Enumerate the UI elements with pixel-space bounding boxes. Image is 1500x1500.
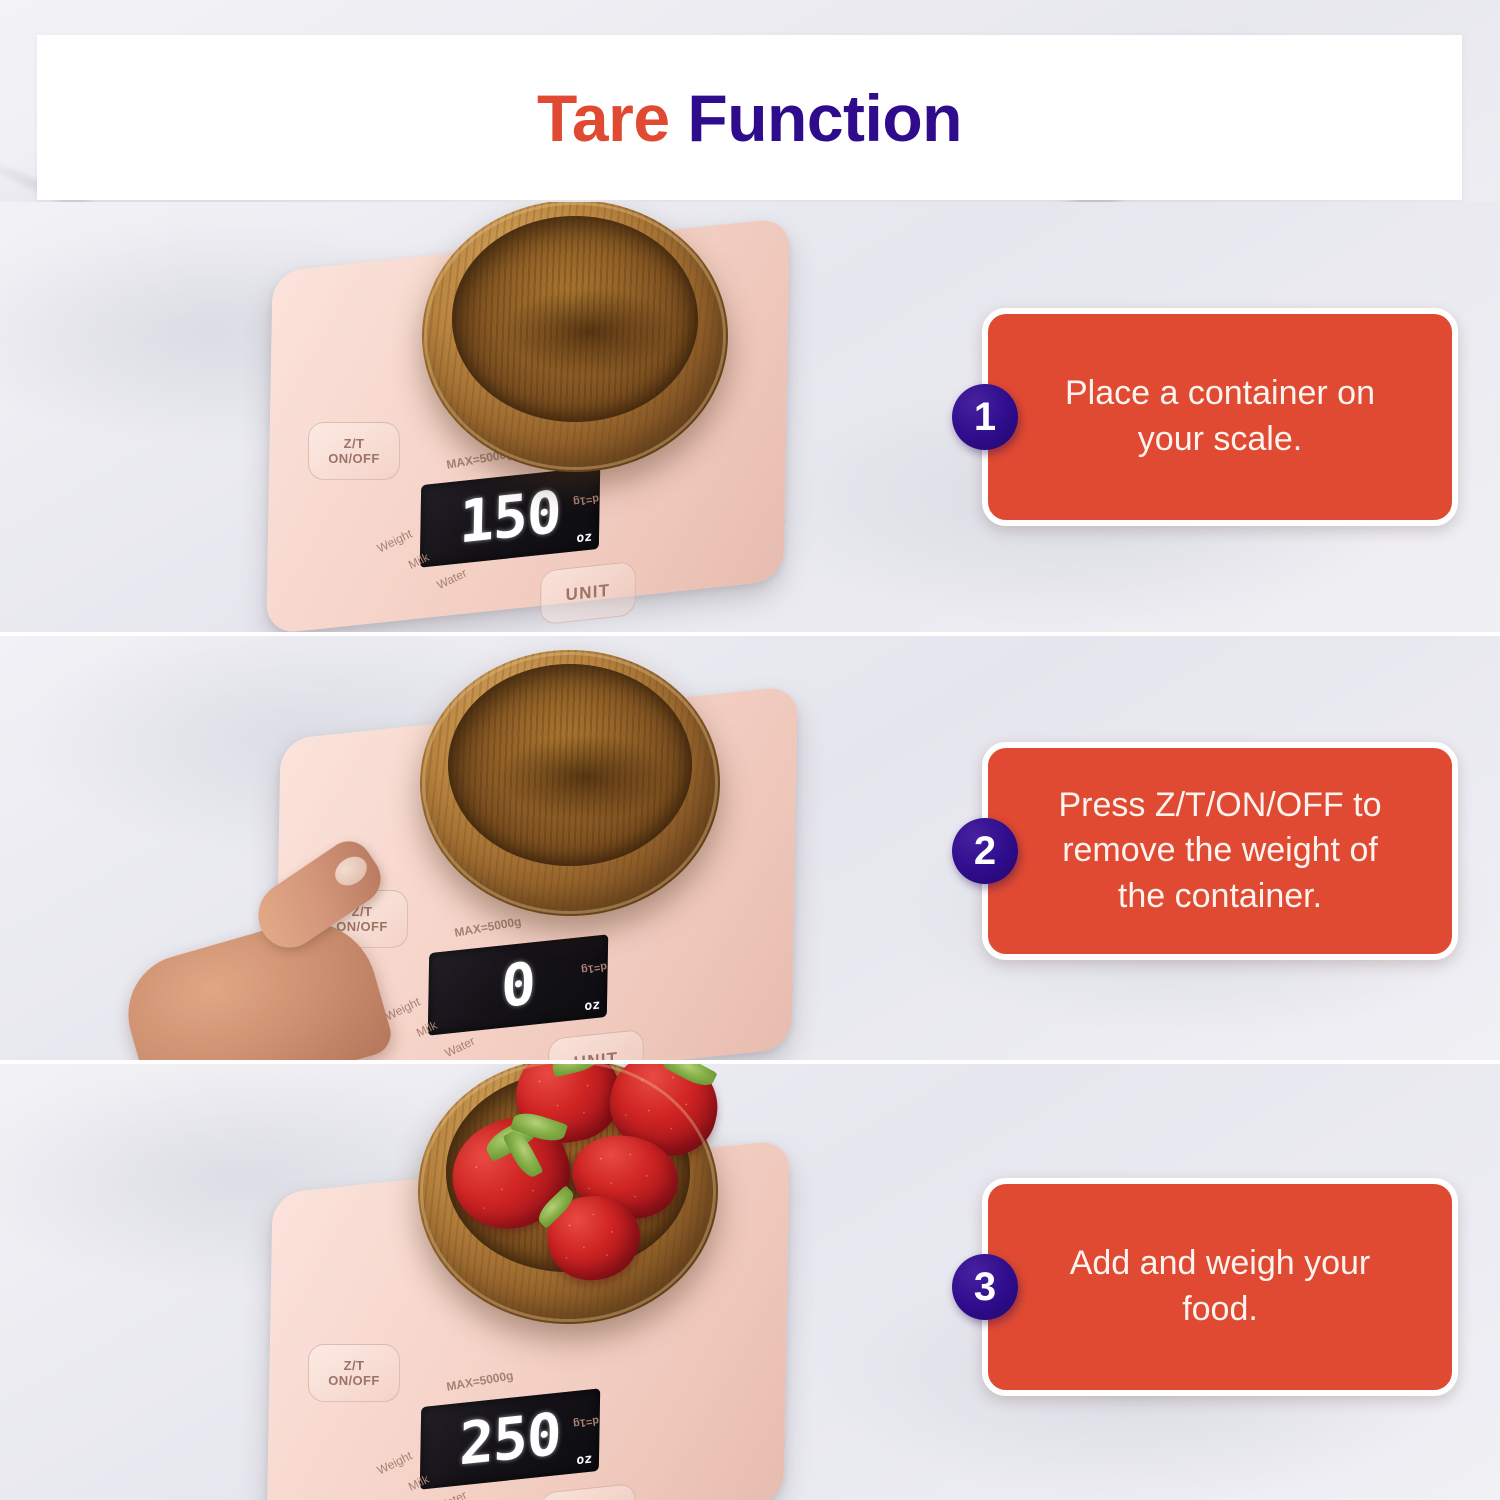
bowl-rim-highlight — [424, 202, 726, 470]
panel-divider-1 — [0, 632, 1500, 636]
step-panel-3: Z/T ON/OFF 250 oz MAX=5000g d=1g Weight … — [0, 1064, 1500, 1500]
bowl-rim-highlight — [422, 652, 718, 914]
step-card-2[interactable]: Press Z/T/ON/OFF to remove the weight of… — [982, 742, 1458, 960]
step-3-badge: 3 — [952, 1254, 1018, 1320]
step-2-number: 2 — [974, 829, 996, 874]
page-title: Tare Function — [537, 85, 962, 151]
unit-button-label: UNIT — [566, 581, 611, 606]
weight-reading-3: 250 — [459, 1399, 561, 1478]
step-3-number: 3 — [974, 1265, 996, 1310]
step-panel-2: Z/T ON/OFF 0 oz MAX=5000g d=1g Weight Mi… — [0, 636, 1500, 1060]
step-card-1[interactable]: Place a container on your scale. — [982, 308, 1458, 526]
unit-button[interactable]: UNIT — [540, 561, 635, 625]
step-3-text: Add and weigh your food. — [988, 1241, 1452, 1332]
weight-unit-3: oz — [576, 1451, 592, 1468]
weight-unit-1: oz — [576, 529, 592, 546]
step-panel-1: Z/T ON/OFF 150 oz MAX=5000g d=1g Weight … — [0, 202, 1500, 632]
step-2-badge: 2 — [952, 818, 1018, 884]
tare-button-label-2: ON/OFF — [328, 1373, 380, 1388]
unit-button-label: UNIT — [574, 1049, 619, 1060]
tare-button-label-1: Z/T — [344, 436, 365, 451]
weight-unit-2: oz — [584, 997, 600, 1014]
bowl-rim-highlight — [420, 1064, 716, 1322]
step-1-badge: 1 — [952, 384, 1018, 450]
tare-button-label-1: Z/T — [344, 1358, 365, 1373]
title-word-function: Function — [687, 81, 962, 155]
weight-reading-2: 0 — [501, 949, 536, 1021]
step-2-text: Press Z/T/ON/OFF to remove the weight of… — [988, 783, 1452, 920]
step-1-number: 1 — [974, 395, 996, 440]
panel-divider-2 — [0, 1060, 1500, 1064]
step-card-3[interactable]: Add and weigh your food. — [982, 1178, 1458, 1396]
title-word-tare: Tare — [537, 81, 670, 155]
tare-button[interactable]: Z/T ON/OFF — [308, 1344, 400, 1402]
step-1-text: Place a container on your scale. — [988, 371, 1452, 462]
tare-button[interactable]: Z/T ON/OFF — [308, 422, 400, 480]
title-banner: Tare Function — [37, 35, 1462, 200]
tare-button-label-2: ON/OFF — [328, 451, 380, 466]
weight-reading-1: 150 — [459, 477, 561, 556]
